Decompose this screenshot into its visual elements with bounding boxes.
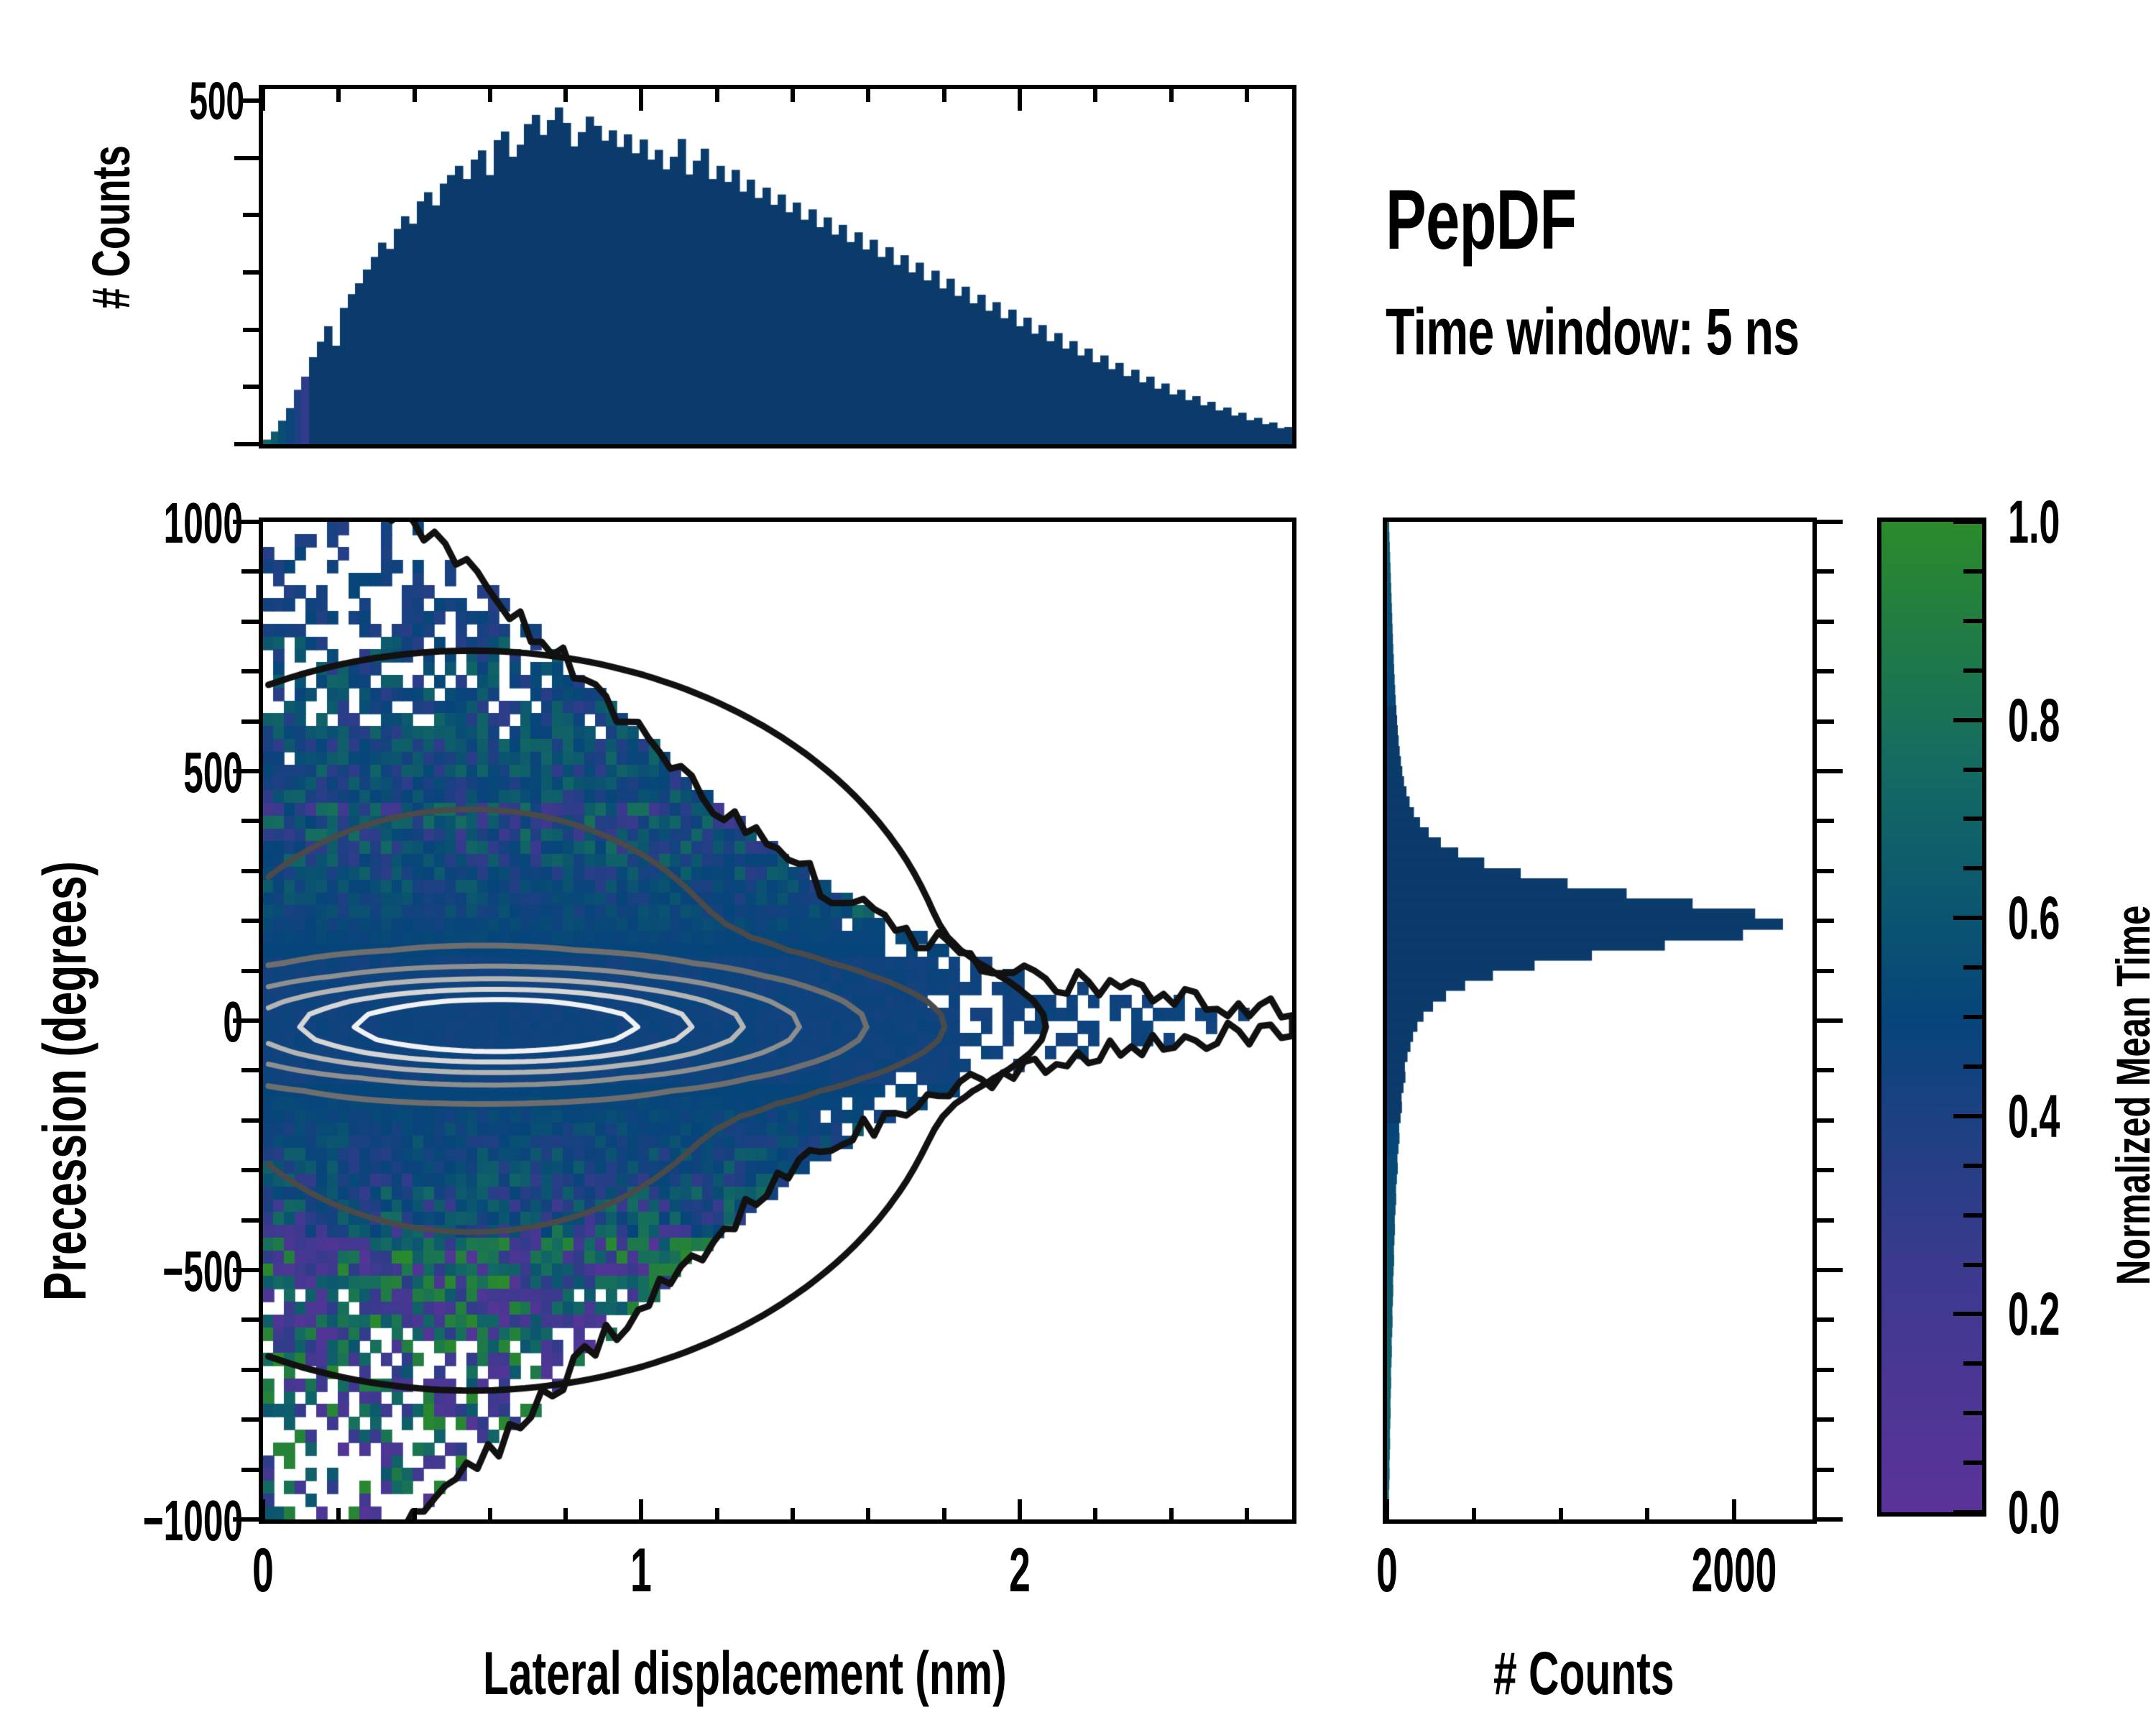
axis-tick — [639, 89, 643, 111]
axis-tick — [791, 1508, 795, 1524]
axis-tick — [241, 1168, 259, 1172]
axis-tick — [1953, 1114, 1982, 1118]
top-hist-ylabel: # Counts — [80, 145, 142, 309]
axis-tick — [563, 1508, 568, 1524]
axis-tick-label: −500 — [140, 1238, 243, 1305]
axis-tick — [243, 213, 259, 217]
axis-tick — [1953, 718, 1982, 722]
axis-tick — [261, 1499, 265, 1524]
axis-tick — [1472, 1508, 1476, 1524]
axis-tick — [241, 1368, 259, 1372]
axis-tick — [1817, 719, 1834, 724]
axis-tick — [866, 1508, 870, 1524]
axis-tick — [243, 385, 259, 389]
axis-tick — [1817, 1218, 1834, 1223]
axis-tick — [241, 569, 259, 574]
axis-tick — [942, 89, 946, 102]
axis-tick — [1018, 89, 1022, 111]
axis-tick — [1645, 1508, 1649, 1524]
axis-tick — [241, 1118, 259, 1123]
axis-tick-label: 1.0 — [2008, 487, 2060, 557]
axis-tick — [1817, 919, 1834, 923]
axis-tick — [1817, 1468, 1834, 1472]
axis-tick — [1093, 1508, 1097, 1524]
axis-tick — [1245, 1508, 1249, 1524]
axis-tick — [1963, 1213, 1982, 1218]
axis-tick — [1953, 1312, 1982, 1316]
axis-tick — [234, 156, 259, 160]
axis-tick — [1963, 768, 1982, 772]
axis-tick — [1963, 668, 1982, 673]
axis-tick — [1963, 1411, 1982, 1415]
axis-tick-label: 0.4 — [2008, 1082, 2060, 1151]
axis-tick — [715, 1508, 719, 1524]
axis-tick — [942, 1508, 946, 1524]
axis-tick — [1559, 1508, 1563, 1524]
axis-tick — [413, 1508, 417, 1524]
axis-tick — [1817, 1317, 1834, 1322]
axis-tick — [1963, 1015, 1982, 1019]
axis-tick — [1963, 1164, 1982, 1168]
axis-tick — [1963, 569, 1982, 574]
axis-tick — [234, 442, 259, 446]
axis-tick — [1963, 619, 1982, 623]
axis-tick — [1817, 669, 1834, 673]
axis-tick — [241, 620, 259, 624]
axis-tick — [1817, 1168, 1834, 1172]
axis-tick — [241, 919, 259, 923]
axis-tick — [1963, 1361, 1982, 1366]
axis-tick — [1817, 819, 1834, 823]
right-hist-xlabel: # Counts — [1493, 1639, 1674, 1708]
main-ylabel: Precession (degrees) — [30, 861, 100, 1301]
axis-tick — [1953, 916, 1982, 920]
axis-tick — [241, 1218, 259, 1223]
axis-tick — [1817, 1068, 1834, 1072]
axis-tick — [1169, 1508, 1174, 1524]
axis-tick — [261, 89, 265, 111]
axis-tick — [866, 89, 870, 102]
axis-tick — [241, 819, 259, 823]
main-xlabel: Lateral displacement (nm) — [483, 1639, 1007, 1708]
axis-tick — [336, 1508, 341, 1524]
axis-tick — [336, 89, 341, 102]
axis-tick-label: 0.8 — [2008, 686, 2060, 755]
axis-tick — [1817, 569, 1834, 574]
axis-tick — [1817, 1018, 1843, 1023]
axis-tick — [413, 89, 417, 102]
axis-tick — [1732, 1499, 1736, 1524]
axis-tick — [1817, 1517, 1843, 1522]
top-histogram-canvas — [263, 89, 1292, 444]
right-histogram-canvas — [1387, 522, 1812, 1519]
figure-subtitle: Time window: 5 ns — [1386, 295, 1799, 370]
axis-tick — [1093, 89, 1097, 102]
axis-tick — [488, 89, 492, 102]
axis-tick-label: 0.2 — [2008, 1279, 2060, 1349]
axis-tick — [1963, 1064, 1982, 1069]
axis-tick — [1817, 1368, 1834, 1372]
axis-tick-label: 500 — [140, 740, 243, 806]
axis-tick — [241, 869, 259, 873]
axis-tick — [241, 669, 259, 673]
axis-tick-label: 1000 — [140, 490, 243, 556]
axis-tick — [1817, 1417, 1834, 1422]
axis-tick — [1963, 866, 1982, 870]
axis-tick-label: 0.0 — [2008, 1478, 2060, 1547]
axis-tick — [1245, 89, 1249, 102]
top-hist-ytick-500: 500 — [160, 70, 244, 132]
axis-tick — [639, 1499, 643, 1524]
axis-tick — [1169, 89, 1174, 102]
axis-tick-label: 2000 — [1685, 1535, 1783, 1606]
axis-tick — [1817, 1118, 1834, 1123]
top-marginal-histogram-panel — [259, 85, 1296, 448]
axis-tick — [243, 270, 259, 275]
axis-tick — [241, 1417, 259, 1422]
axis-tick — [241, 1317, 259, 1322]
axis-tick-label: 0 — [140, 989, 243, 1055]
axis-tick-label: 1 — [602, 1535, 682, 1606]
axis-tick — [1817, 520, 1843, 524]
axis-tick — [1963, 965, 1982, 970]
axis-tick — [243, 98, 259, 103]
axis-tick — [1963, 816, 1982, 821]
figure-title: PepDF — [1386, 171, 1576, 269]
axis-tick — [1963, 1460, 1982, 1465]
axis-tick — [241, 1468, 259, 1472]
axis-tick — [1018, 1499, 1022, 1524]
axis-tick — [243, 328, 259, 332]
colorbar-label: Normalized Mean Time — [2106, 906, 2156, 1285]
axis-tick — [715, 89, 719, 102]
figure-root: 500 # Counts PepDF Time window: 5 ns 100… — [0, 0, 2156, 1725]
axis-tick — [791, 89, 795, 102]
axis-tick — [1385, 1499, 1389, 1524]
axis-tick — [1817, 769, 1843, 773]
axis-tick — [1963, 1263, 1982, 1267]
axis-tick — [241, 1068, 259, 1072]
main-2d-histogram-panel — [259, 517, 1296, 1524]
axis-tick — [1953, 520, 1982, 524]
axis-tick-label: 0 — [223, 1535, 303, 1606]
main-heatmap-canvas — [263, 522, 1292, 1519]
axis-tick — [1817, 869, 1834, 873]
right-marginal-histogram-panel — [1383, 517, 1817, 1524]
axis-tick — [563, 89, 568, 102]
axis-tick-label: 2 — [980, 1535, 1060, 1606]
axis-tick — [1817, 620, 1834, 624]
axis-tick — [241, 969, 259, 973]
axis-tick-label: 0.6 — [2008, 883, 2060, 953]
axis-tick — [1817, 969, 1834, 973]
axis-tick — [1817, 1268, 1843, 1272]
axis-tick-label: 0 — [1338, 1535, 1436, 1606]
axis-tick — [1953, 1510, 1982, 1514]
axis-tick — [241, 719, 259, 724]
axis-tick — [488, 1508, 492, 1524]
